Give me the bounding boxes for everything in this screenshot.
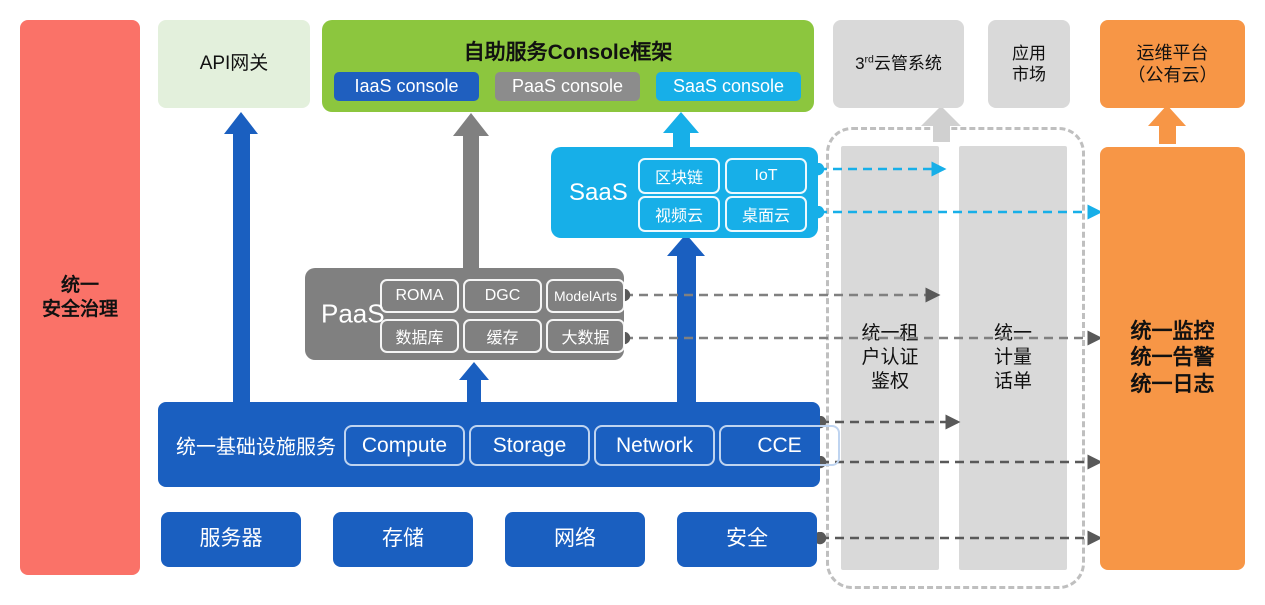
infra-item-compute[interactable]: Compute <box>344 425 465 466</box>
unified-ops-panel[interactable]: 统一监控 统一告警 统一日志 <box>1100 147 1245 570</box>
saas-item-iot-label: IoT <box>754 167 777 185</box>
paas-title: PaaS <box>321 299 385 330</box>
saas-item-video-cloud-label: 视频云 <box>655 202 703 226</box>
api-gateway-label: API网关 <box>200 52 269 76</box>
third-party-cloud-card[interactable]: 3rd云管系统 <box>833 20 964 108</box>
third-party-cloud-label: 3rd云管系统 <box>855 53 942 74</box>
infra-item-storage-label: Storage <box>493 434 567 458</box>
paas-item-database[interactable]: 数据库 <box>380 319 459 353</box>
app-market-card[interactable]: 应用 市场 <box>988 20 1070 108</box>
infrastructure-block[interactable]: 统一基础设施服务 Compute Storage Network CCE <box>158 402 820 487</box>
saas-title: SaaS <box>569 179 628 207</box>
console-item-saas-label: SaaS console <box>673 76 784 97</box>
saas-item-iot[interactable]: IoT <box>725 158 807 194</box>
resource-card-security-label: 安全 <box>726 526 768 552</box>
infra-item-cce-label: CCE <box>757 434 801 458</box>
console-item-iaas-label: IaaS console <box>354 76 458 97</box>
resource-card-server-label: 服务器 <box>200 526 263 552</box>
architecture-diagram: 统一租 户认证 鉴权 统一 计量 话单 <box>0 0 1265 605</box>
paas-item-cache[interactable]: 缓存 <box>463 319 542 353</box>
console-panel[interactable]: 自助服务Console框架 IaaS console PaaS console … <box>322 20 814 112</box>
saas-item-desktop-cloud-label: 桌面云 <box>742 202 790 226</box>
saas-item-video-cloud[interactable]: 视频云 <box>638 196 720 232</box>
arrow-infra-to-saas <box>667 234 705 403</box>
console-item-paas[interactable]: PaaS console <box>495 72 640 101</box>
paas-item-bigdata-label: 大数据 <box>561 324 609 348</box>
paas-item-database-label: 数据库 <box>395 324 443 348</box>
security-governance-panel[interactable]: 统一 安全治理 <box>20 20 140 575</box>
arrow-into-third-party <box>921 106 961 142</box>
saas-block[interactable]: SaaS 区块链 IoT 视频云 桌面云 <box>551 147 818 238</box>
resource-card-security[interactable]: 安全 <box>677 512 817 567</box>
arrow-into-ops-card <box>1148 105 1186 144</box>
saas-item-blockchain-label: 区块链 <box>655 164 703 188</box>
infra-item-compute-label: Compute <box>362 434 447 458</box>
app-market-label: 应用 市场 <box>1012 43 1046 86</box>
resource-card-network-label: 网络 <box>554 526 596 552</box>
paas-item-roma-label: ROMA <box>396 287 444 305</box>
saas-item-blockchain[interactable]: 区块链 <box>638 158 720 194</box>
infrastructure-title: 统一基础设施服务 <box>176 430 336 459</box>
resource-card-network[interactable]: 网络 <box>505 512 645 567</box>
ops-platform-card-label: 运维平台 （公有云） <box>1128 42 1218 87</box>
arrow-infra-to-paas <box>459 362 489 402</box>
arrow-paas-to-console <box>453 113 489 270</box>
paas-block[interactable]: PaaS ROMA DGC ModelArts 数据库 缓存 大数据 <box>305 268 624 360</box>
console-item-saas[interactable]: SaaS console <box>656 72 801 101</box>
unified-ops-panel-label: 统一监控 统一告警 统一日志 <box>1131 319 1215 398</box>
resource-card-storage-label: 存储 <box>382 526 424 552</box>
security-governance-label: 统一 安全治理 <box>42 274 118 322</box>
console-title: 自助服务Console框架 <box>322 36 814 66</box>
paas-item-modelarts-label: ModelArts <box>554 288 617 304</box>
paas-item-modelarts[interactable]: ModelArts <box>546 279 625 313</box>
third-party-number: 3 <box>855 54 864 73</box>
ops-platform-card[interactable]: 运维平台 （公有云） <box>1100 20 1245 108</box>
arrow-saas-to-console <box>663 112 699 150</box>
resource-card-storage[interactable]: 存储 <box>333 512 473 567</box>
resource-card-server[interactable]: 服务器 <box>161 512 301 567</box>
infra-item-storage[interactable]: Storage <box>469 425 590 466</box>
arrow-infra-to-api-gateway <box>224 112 258 403</box>
infra-item-network[interactable]: Network <box>594 425 715 466</box>
paas-item-bigdata[interactable]: 大数据 <box>546 319 625 353</box>
paas-item-dgc[interactable]: DGC <box>463 279 542 313</box>
paas-item-cache-label: 缓存 <box>486 324 518 348</box>
saas-item-desktop-cloud[interactable]: 桌面云 <box>725 196 807 232</box>
third-party-rest: 云管系统 <box>874 54 942 73</box>
paas-item-dgc-label: DGC <box>485 287 521 305</box>
api-gateway-card[interactable]: API网关 <box>158 20 310 108</box>
console-item-iaas[interactable]: IaaS console <box>334 72 479 101</box>
third-party-ordinal: rd <box>865 54 874 66</box>
infra-item-cce[interactable]: CCE <box>719 425 840 466</box>
console-item-paas-label: PaaS console <box>512 76 623 97</box>
paas-item-roma[interactable]: ROMA <box>380 279 459 313</box>
infra-item-network-label: Network <box>616 434 693 458</box>
